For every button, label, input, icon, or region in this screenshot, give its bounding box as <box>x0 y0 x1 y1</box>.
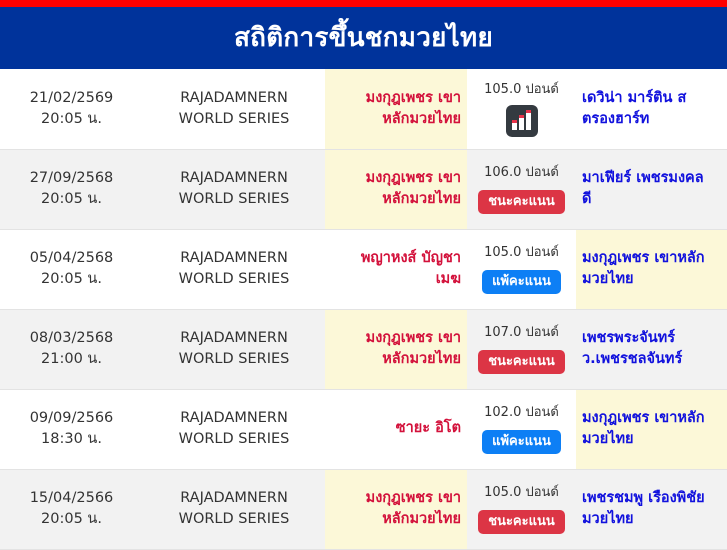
opponent-name-cell[interactable]: มงกุฎเพชร เขาหลักมวยไทย <box>325 309 467 389</box>
event-line-2: WORLD SERIES <box>149 429 319 450</box>
opponent-line-2: หลักมวยไทย <box>382 511 461 527</box>
event-line-2: WORLD SERIES <box>149 349 319 370</box>
fighter-line-1: มงกุฎเพชร เขาหลัก <box>582 410 705 426</box>
fight-stats-table: 21/02/256920:05 น.RAJADAMNERNWORLD SERIE… <box>0 69 727 550</box>
opponent-name-cell[interactable]: มงกุฎเพชร เขาหลักมวยไทย <box>325 149 467 229</box>
event-line-2: WORLD SERIES <box>149 269 319 290</box>
opponent-line-1: มงกุฎเพชร เขา <box>366 330 461 346</box>
table-row[interactable]: 21/02/256920:05 น.RAJADAMNERNWORLD SERIE… <box>0 69 727 149</box>
event-line-2: WORLD SERIES <box>149 509 319 530</box>
fight-time: 20:05 น. <box>6 269 137 290</box>
fight-date: 27/09/2568 <box>6 168 137 189</box>
event-line-1: RAJADAMNERN <box>149 328 319 349</box>
opponent-name-cell[interactable]: ซายะ อิโต <box>325 389 467 469</box>
table-row[interactable]: 15/04/256620:05 น.RAJADAMNERNWORLD SERIE… <box>0 469 727 549</box>
bar-chart-icon[interactable] <box>506 105 538 137</box>
fight-time: 18:30 น. <box>6 429 137 450</box>
fighter-line-2: มวยไทย <box>582 511 634 527</box>
fighter-line-1: มาเฟียร์ เพชรมงคล <box>582 170 704 186</box>
opponent-line-2: หลักมวยไทย <box>382 111 461 127</box>
event-line-2: WORLD SERIES <box>149 109 319 130</box>
fight-date-cell: 09/09/256618:30 น. <box>0 389 143 469</box>
event-line-1: RAJADAMNERN <box>149 168 319 189</box>
fighter-line-2: ดี <box>582 191 591 207</box>
fight-stats-body: 21/02/256920:05 น.RAJADAMNERNWORLD SERIE… <box>0 69 727 549</box>
opponent-line-2: เมฆ <box>436 271 461 287</box>
fighter-name-cell[interactable]: เพชรชมพู เรืองพิชัยมวยไทย <box>576 469 727 549</box>
opponent-line-1: มงกุฎเพชร เขา <box>366 170 461 186</box>
event-name-cell[interactable]: RAJADAMNERNWORLD SERIES <box>143 229 325 309</box>
opponent-name-cell[interactable]: มงกุฎเพชร เขาหลักมวยไทย <box>325 469 467 549</box>
result-cell: 107.0 ปอนด์ชนะคะแนน <box>467 309 576 389</box>
table-row[interactable]: 09/09/256618:30 น.RAJADAMNERNWORLD SERIE… <box>0 389 727 469</box>
fight-time: 21:00 น. <box>6 349 137 370</box>
result-cell: 105.0 ปอนด์ชนะคะแนน <box>467 469 576 549</box>
event-name-cell[interactable]: RAJADAMNERNWORLD SERIES <box>143 389 325 469</box>
table-row[interactable]: 27/09/256820:05 น.RAJADAMNERNWORLD SERIE… <box>0 149 727 229</box>
fighter-name-cell[interactable]: มงกุฎเพชร เขาหลักมวยไทย <box>576 389 727 469</box>
event-name-cell[interactable]: RAJADAMNERNWORLD SERIES <box>143 309 325 389</box>
fight-date-cell: 05/04/256820:05 น. <box>0 229 143 309</box>
opponent-line-2: หลักมวยไทย <box>382 351 461 367</box>
page-title: สถิติการขึ้นชกมวยไทย <box>234 24 493 53</box>
event-name-cell[interactable]: RAJADAMNERNWORLD SERIES <box>143 69 325 149</box>
opponent-line-1: มงกุฎเพชร เขา <box>366 490 461 506</box>
fight-time: 20:05 น. <box>6 509 137 530</box>
fighter-line-2: ว.เพชรชลจันทร์ <box>582 351 682 367</box>
bar-chart-icon-bar <box>526 110 531 130</box>
table-row[interactable]: 08/03/256821:00 น.RAJADAMNERNWORLD SERIE… <box>0 309 727 389</box>
status-badge-loss: แพ้คะแนน <box>482 270 561 294</box>
fight-date-cell: 08/03/256821:00 น. <box>0 309 143 389</box>
fighter-line-1: เพชรพระจันทร์ <box>582 330 675 346</box>
fight-date-cell: 21/02/256920:05 น. <box>0 69 143 149</box>
weight-label: 105.0 ปอนด์ <box>473 484 570 503</box>
fight-date: 15/04/2566 <box>6 488 137 509</box>
result-cell: 106.0 ปอนด์ชนะคะแนน <box>467 149 576 229</box>
status-badge-loss: แพ้คะแนน <box>482 430 561 454</box>
bar-chart-icon-bar <box>519 115 524 130</box>
opponent-name-cell[interactable]: มงกุฎเพชร เขาหลักมวยไทย <box>325 69 467 149</box>
fight-date: 05/04/2568 <box>6 248 137 269</box>
fighter-line-2: ตรองฮาร์ท <box>582 111 649 127</box>
fight-date-cell: 15/04/256620:05 น. <box>0 469 143 549</box>
fighter-line-1: มงกุฎเพชร เขาหลัก <box>582 250 705 266</box>
bar-chart-icon-bar <box>512 120 517 130</box>
opponent-line-1: พญาหงส์ บัญชา <box>361 250 461 266</box>
opponent-line-1: มงกุฎเพชร เขา <box>366 90 461 106</box>
result-cell: 105.0 ปอนด์แพ้คะแนน <box>467 229 576 309</box>
event-line-1: RAJADAMNERN <box>149 488 319 509</box>
table-row[interactable]: 05/04/256820:05 น.RAJADAMNERNWORLD SERIE… <box>0 229 727 309</box>
weight-label: 102.0 ปอนด์ <box>473 404 570 423</box>
fight-time: 20:05 น. <box>6 109 137 130</box>
fighter-line-1: เพชรชมพู เรืองพิชัย <box>582 490 705 506</box>
fighter-line-2: มวยไทย <box>582 431 634 447</box>
weight-label: 106.0 ปอนด์ <box>473 164 570 183</box>
fighter-line-2: มวยไทย <box>582 271 634 287</box>
event-line-1: RAJADAMNERN <box>149 88 319 109</box>
event-line-2: WORLD SERIES <box>149 189 319 210</box>
opponent-line-1: ซายะ อิโต <box>396 420 461 436</box>
fighter-name-cell[interactable]: เดวิน่า มาร์ติน สตรองฮาร์ท <box>576 69 727 149</box>
opponent-name-cell[interactable]: พญาหงส์ บัญชาเมฆ <box>325 229 467 309</box>
weight-label: 107.0 ปอนด์ <box>473 324 570 343</box>
status-badge-win: ชนะคะแนน <box>478 190 565 214</box>
opponent-line-2: หลักมวยไทย <box>382 191 461 207</box>
page-header: สถิติการขึ้นชกมวยไทย <box>0 7 727 69</box>
fighter-line-1: เดวิน่า มาร์ติน ส <box>582 90 686 106</box>
result-cell: 102.0 ปอนด์แพ้คะแนน <box>467 389 576 469</box>
fight-date-cell: 27/09/256820:05 น. <box>0 149 143 229</box>
fighter-name-cell[interactable]: เพชรพระจันทร์ว.เพชรชลจันทร์ <box>576 309 727 389</box>
weight-label: 105.0 ปอนด์ <box>473 81 570 100</box>
event-line-1: RAJADAMNERN <box>149 248 319 269</box>
status-badge-win: ชนะคะแนน <box>478 510 565 534</box>
fighter-name-cell[interactable]: มงกุฎเพชร เขาหลักมวยไทย <box>576 229 727 309</box>
result-cell: 105.0 ปอนด์ <box>467 69 576 149</box>
event-name-cell[interactable]: RAJADAMNERNWORLD SERIES <box>143 149 325 229</box>
weight-label: 105.0 ปอนด์ <box>473 244 570 263</box>
fight-time: 20:05 น. <box>6 189 137 210</box>
event-line-1: RAJADAMNERN <box>149 408 319 429</box>
fighter-name-cell[interactable]: มาเฟียร์ เพชรมงคลดี <box>576 149 727 229</box>
top-accent-bar <box>0 0 727 7</box>
fight-date: 21/02/2569 <box>6 88 137 109</box>
fight-date: 08/03/2568 <box>6 328 137 349</box>
status-badge-win: ชนะคะแนน <box>478 350 565 374</box>
event-name-cell[interactable]: RAJADAMNERNWORLD SERIES <box>143 469 325 549</box>
fight-date: 09/09/2566 <box>6 408 137 429</box>
